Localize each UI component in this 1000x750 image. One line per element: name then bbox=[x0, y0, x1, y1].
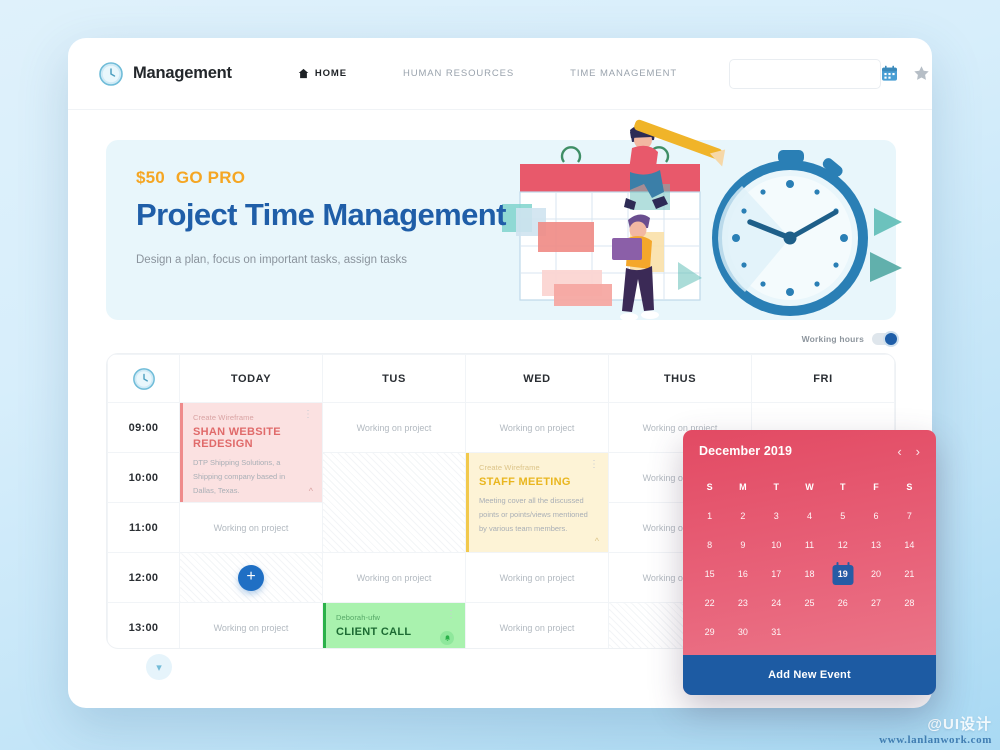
dow-fri: F bbox=[859, 472, 892, 502]
calendar-day[interactable]: 25 bbox=[793, 589, 826, 618]
schedule-col-today[interactable]: TODAY bbox=[180, 355, 323, 403]
calendar-day-selected[interactable]: 19 bbox=[826, 560, 859, 589]
calendar-week-row: 293031 bbox=[693, 618, 926, 647]
schedule-header-row: TODAY TUS WED THUS FRI bbox=[108, 355, 895, 403]
time-label-1100: 11:00 bbox=[108, 503, 180, 553]
brand-title: Management bbox=[133, 64, 232, 83]
dow-tue: T bbox=[760, 472, 793, 502]
calendar-day[interactable]: 4 bbox=[793, 502, 826, 531]
calendar-day[interactable]: 21 bbox=[893, 560, 926, 589]
calendar-days: 1234567891011121314151617181920212223242… bbox=[693, 502, 926, 647]
time-label-1200: 12:00 bbox=[108, 553, 180, 603]
event-card-client-call[interactable]: ⋮ Deborah-ufw CLIENT CALL bbox=[323, 603, 465, 649]
hero-banner: $50 GO PRO Project Time Management Desig… bbox=[106, 140, 896, 320]
watermark-line-1: @UI设计 bbox=[879, 713, 992, 734]
chevron-left-icon[interactable]: ‹ bbox=[897, 445, 901, 458]
event-cell-today-0900[interactable]: ⋮ Create Wireframe SHAN WEBSITE REDESIGN… bbox=[180, 403, 323, 503]
nav-link-human-resources[interactable]: HUMAN RESOURCES bbox=[375, 68, 542, 79]
calendar-day[interactable]: 20 bbox=[859, 560, 892, 589]
calendar-header: December 2019 ‹ › bbox=[683, 430, 936, 472]
add-new-event-button[interactable]: Add New Event bbox=[683, 655, 936, 695]
kebab-menu-icon[interactable]: ⋮ bbox=[446, 611, 456, 618]
calendar-day[interactable]: 16 bbox=[726, 560, 759, 589]
dow-thu: T bbox=[826, 472, 859, 502]
cell-wed-0900[interactable]: Working on project bbox=[466, 403, 609, 453]
calendar-month-label: December 2019 bbox=[699, 444, 792, 458]
clock-icon bbox=[98, 61, 124, 87]
chevron-up-icon[interactable]: ^ bbox=[595, 536, 599, 546]
search-box[interactable] bbox=[729, 59, 881, 89]
calendar-day[interactable]: 11 bbox=[793, 531, 826, 560]
cell-today-1100[interactable]: Working on project bbox=[180, 503, 323, 553]
calendar-day[interactable]: 9 bbox=[726, 531, 759, 560]
nav-link-home[interactable]: HOME bbox=[270, 68, 375, 79]
nav-actions bbox=[881, 60, 932, 88]
event-accent-bar bbox=[180, 403, 183, 502]
schedule-clock-icon-cell bbox=[108, 355, 180, 403]
calendar-day[interactable]: 3 bbox=[760, 502, 793, 531]
event-accent-bar bbox=[323, 603, 326, 649]
hero-title: Project Time Management bbox=[136, 197, 506, 233]
event-cell-wed-1000[interactable]: ⋮ Create Wireframe STAFF MEETING Meeting… bbox=[466, 453, 609, 553]
cell-wed-1300[interactable]: Working on project bbox=[466, 603, 609, 650]
time-label-0900: 09:00 bbox=[108, 403, 180, 453]
dow-sat: S bbox=[893, 472, 926, 502]
hero-price: $50 bbox=[136, 168, 165, 187]
top-navigation-bar: Management HOME HUMAN RESOURCES TIME MAN… bbox=[68, 38, 932, 110]
calendar-day[interactable]: 5 bbox=[826, 502, 859, 531]
event-title: CLIENT CALL bbox=[336, 626, 453, 638]
event-title: SHAN WEBSITE REDESIGN bbox=[193, 426, 310, 450]
event-cell-tus-1300[interactable]: ⋮ Deborah-ufw CLIENT CALL bbox=[323, 603, 466, 650]
nav-link-time-management-label: TIME MANAGEMENT bbox=[570, 68, 677, 79]
working-hours-label: Working hours bbox=[802, 334, 864, 344]
calendar-day[interactable]: 10 bbox=[760, 531, 793, 560]
calendar-day[interactable]: 24 bbox=[760, 589, 793, 618]
hero-text: $50 GO PRO Project Time Management Desig… bbox=[136, 168, 506, 266]
calendar-day[interactable]: 1 bbox=[693, 502, 726, 531]
schedule-col-fri[interactable]: FRI bbox=[752, 355, 895, 403]
calendar-day[interactable]: 13 bbox=[859, 531, 892, 560]
calendar-day[interactable]: 31 bbox=[760, 618, 793, 647]
calendar-day[interactable]: 23 bbox=[726, 589, 759, 618]
nav-links: HOME HUMAN RESOURCES TIME MANAGEMENT bbox=[270, 68, 705, 79]
event-description: Meeting cover all the discussed points o… bbox=[479, 494, 596, 536]
schedule-col-tus[interactable]: TUS bbox=[323, 355, 466, 403]
working-hours-toggle-row: Working hours bbox=[802, 333, 898, 345]
calendar-week-row: 1234567 bbox=[693, 502, 926, 531]
event-card-staff-meeting[interactable]: ⋮ Create Wireframe STAFF MEETING Meeting… bbox=[466, 453, 608, 552]
calendar-week-row: 22232425262728 bbox=[693, 589, 926, 618]
nav-link-home-label: HOME bbox=[315, 68, 347, 79]
kebab-menu-icon[interactable]: ⋮ bbox=[303, 411, 313, 418]
event-description: DTP Shipping Solutions, a Shipping compa… bbox=[193, 456, 310, 498]
time-label-1000: 10:00 bbox=[108, 453, 180, 503]
calendar-day[interactable]: 27 bbox=[859, 589, 892, 618]
calendar-day[interactable]: 18 bbox=[793, 560, 826, 589]
watermark: @UI设计 www.lanlanwork.com bbox=[879, 713, 992, 746]
hero-pro-label: GO PRO bbox=[176, 168, 245, 187]
add-event-button[interactable]: + bbox=[238, 565, 264, 591]
home-icon bbox=[298, 68, 309, 79]
event-accent-bar bbox=[466, 453, 469, 552]
calendar-day[interactable]: 2 bbox=[726, 502, 759, 531]
schedule-col-wed[interactable]: WED bbox=[466, 355, 609, 403]
calendar-week-row: 891011121314 bbox=[693, 531, 926, 560]
calendar-day[interactable]: 6 bbox=[859, 502, 892, 531]
schedule-col-thus[interactable]: THUS bbox=[609, 355, 752, 403]
nav-link-human-resources-label: HUMAN RESOURCES bbox=[403, 68, 514, 79]
calendar-day-number: 19 bbox=[838, 569, 848, 579]
calendar-day[interactable]: 8 bbox=[693, 531, 726, 560]
schedule-expand-button[interactable]: ▾ bbox=[146, 654, 172, 680]
bell-icon[interactable] bbox=[440, 631, 454, 645]
calendar-day[interactable]: 7 bbox=[893, 502, 926, 531]
calendar-grid: S M T W T F S 12345678910111213141516171… bbox=[683, 472, 936, 647]
calendar-icon[interactable] bbox=[881, 65, 898, 82]
kebab-menu-icon[interactable]: ⋮ bbox=[589, 461, 599, 468]
calendar-popup: December 2019 ‹ › S M T W T F S 12345678… bbox=[683, 430, 936, 695]
time-label-1300: 13:00 bbox=[108, 603, 180, 650]
calendar-day[interactable]: 29 bbox=[693, 618, 726, 647]
cell-tus-1000-blocked[interactable] bbox=[323, 453, 466, 553]
hero-kicker: $50 GO PRO bbox=[136, 168, 506, 188]
hero-subtitle: Design a plan, focus on important tasks,… bbox=[136, 254, 506, 266]
calendar-day[interactable]: 15 bbox=[693, 560, 726, 589]
hero-illustration bbox=[502, 112, 902, 334]
event-title: STAFF MEETING bbox=[479, 476, 596, 488]
cell-tus-1200[interactable]: Working on project bbox=[323, 553, 466, 603]
calendar-day[interactable]: 17 bbox=[760, 560, 793, 589]
calendar-day[interactable]: 22 bbox=[693, 589, 726, 618]
event-sub: Deborah-ufw bbox=[336, 613, 453, 622]
toggle-knob bbox=[883, 331, 899, 347]
calendar-dow-row: S M T W T F S bbox=[693, 472, 926, 502]
clock-icon bbox=[132, 367, 156, 391]
calendar-day[interactable]: 28 bbox=[893, 589, 926, 618]
event-sub: Create Wireframe bbox=[193, 413, 310, 422]
brand-logo[interactable]: Management bbox=[98, 61, 232, 87]
event-card-shan-website-redesign[interactable]: ⋮ Create Wireframe SHAN WEBSITE REDESIGN… bbox=[180, 403, 322, 502]
cell-today-1200-add[interactable]: + bbox=[180, 553, 323, 603]
calendar-day[interactable]: 30 bbox=[726, 618, 759, 647]
cell-today-1300[interactable]: Working on project bbox=[180, 603, 323, 650]
calendar-nav: ‹ › bbox=[897, 445, 920, 458]
star-icon[interactable] bbox=[913, 65, 930, 82]
dow-mon: M bbox=[726, 472, 759, 502]
calendar-day[interactable]: 14 bbox=[893, 531, 926, 560]
search-input[interactable] bbox=[739, 68, 871, 79]
chevron-down-icon: ▾ bbox=[156, 661, 162, 674]
watermark-line-2: www.lanlanwork.com bbox=[879, 734, 992, 746]
calendar-day[interactable]: 12 bbox=[826, 531, 859, 560]
cell-wed-1200[interactable]: Working on project bbox=[466, 553, 609, 603]
working-hours-toggle[interactable] bbox=[872, 333, 898, 345]
dow-sun: S bbox=[693, 472, 726, 502]
calendar-day[interactable]: 26 bbox=[826, 589, 859, 618]
calendar-week-row: 15161718192021 bbox=[693, 560, 926, 589]
cell-tus-0900[interactable]: Working on project bbox=[323, 403, 466, 453]
chevron-right-icon[interactable]: › bbox=[916, 445, 920, 458]
event-sub: Create Wireframe bbox=[479, 463, 596, 472]
dow-wed: W bbox=[793, 472, 826, 502]
nav-link-time-management[interactable]: TIME MANAGEMENT bbox=[542, 68, 705, 79]
chevron-up-icon[interactable]: ^ bbox=[309, 486, 313, 496]
